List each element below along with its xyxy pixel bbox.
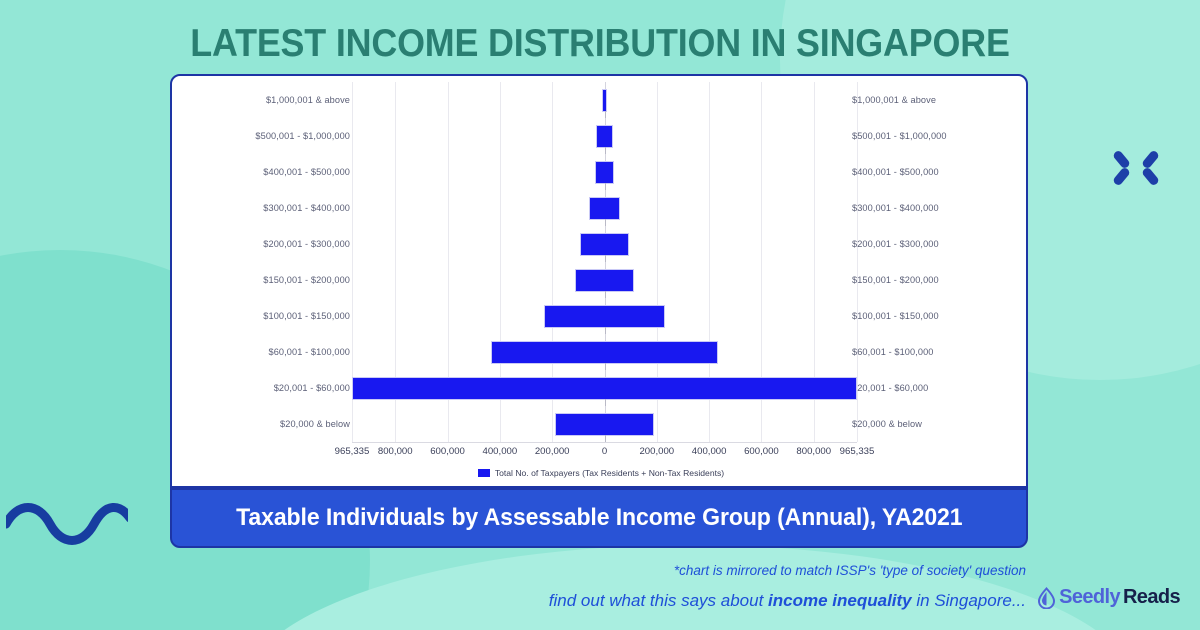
chart-row: $20,001 - $60,000$20,001 - $60,000 [172,370,1028,406]
chart-x-tick: 965,335 [335,446,370,457]
chart-row: $200,001 - $300,000$200,001 - $300,000 [172,226,1028,262]
chart-row: $20,000 & below$20,000 & below [172,406,1028,442]
chart-category-label-left: $200,001 - $300,000 [263,239,350,249]
chart-category-label-left: $20,001 - $60,000 [274,383,350,393]
tagline-emphasis: income inequality [768,591,912,610]
chart-bar[interactable] [602,89,607,112]
chart-x-tick: 200,000 [639,446,674,457]
chart-bar[interactable] [544,305,665,328]
background-blob-bottom [240,545,1140,630]
chart-category-label-left: $400,001 - $500,000 [263,167,350,177]
chart-category-label-left: $20,000 & below [280,419,350,429]
chart-footnote: *chart is mirrored to match ISSP's 'type… [674,563,1026,578]
chart-x-tick: 800,000 [796,446,831,457]
chart-row: $1,000,001 & above$1,000,001 & above [172,82,1028,118]
chart-x-tick: 600,000 [744,446,779,457]
chart-category-label-right: $20,001 - $60,000 [852,383,928,393]
chart-card: $1,000,001 & above$1,000,001 & above$500… [170,74,1028,488]
chart-category-label-right: $60,001 - $100,000 [852,347,934,357]
chart-row: $100,001 - $150,000$100,001 - $150,000 [172,298,1028,334]
chart-bar[interactable] [352,377,857,400]
chart-category-label-right: $400,001 - $500,000 [852,167,939,177]
chart-row: $60,001 - $100,000$60,001 - $100,000 [172,334,1028,370]
legend-label: Total No. of Taxpayers (Tax Residents + … [495,468,724,478]
chart-row-tick [605,363,606,370]
chart-category-label-left: $100,001 - $150,000 [263,311,350,321]
chart-legend: Total No. of Taxpayers (Tax Residents + … [172,468,1028,478]
chart-plot-area: $1,000,001 & above$1,000,001 & above$500… [172,76,1028,446]
chart-x-tick: 965,335 [840,446,875,457]
chart-category-label-left: $300,001 - $400,000 [263,203,350,213]
chart-x-tick: 0 [602,446,607,457]
chart-caption-banner: Taxable Individuals by Assessable Income… [170,488,1028,548]
tagline-before: find out what this says about [549,591,768,610]
chart-bar[interactable] [595,161,614,184]
infographic-canvas: LATEST INCOME DISTRIBUTION IN SINGAPORE … [0,0,1200,630]
chart-bar[interactable] [596,125,612,148]
chart-category-label-right: $20,000 & below [852,419,922,429]
chart-bar[interactable] [575,269,634,292]
chart-row: $150,001 - $200,000$150,001 - $200,000 [172,262,1028,298]
tagline: find out what this says about income ine… [549,591,1026,611]
chart-category-label-left: $60,001 - $100,000 [269,347,351,357]
chart-category-label-left: $500,001 - $1,000,000 [255,131,350,141]
wave-squiggle-icon [6,500,128,553]
chart-x-tick-labels: 965,335800,000600,000400,000200,0000200,… [172,446,1028,464]
chart-row-tick [605,219,606,226]
chart-bar[interactable] [555,413,654,436]
legend-swatch-icon [478,469,490,477]
chart-row-tick [605,291,606,298]
chart-bars: $1,000,001 & above$1,000,001 & above$500… [172,76,1028,446]
chart-x-tick: 400,000 [692,446,727,457]
seedly-leaf-icon [1037,587,1056,609]
chart-x-axis [352,442,857,443]
chart-row-tick [605,435,606,442]
chart-category-label-right: $300,001 - $400,000 [852,203,939,213]
chart-row-tick [605,255,606,262]
seedly-reads-logo[interactable]: Seedly Reads [1037,586,1180,609]
chart-row: $400,001 - $500,000$400,001 - $500,000 [172,154,1028,190]
chart-x-tick: 600,000 [430,446,465,457]
chart-row: $500,001 - $1,000,000$500,001 - $1,000,0… [172,118,1028,154]
chart-row-tick [605,111,606,118]
chart-row-tick [605,183,606,190]
chart-row-tick [605,399,606,406]
tagline-after: in Singapore... [912,591,1026,610]
chart-x-tick: 200,000 [535,446,570,457]
logo-word-seedly: Seedly [1059,586,1120,609]
four-petal-x-icon [1113,145,1159,196]
logo-word-reads: Reads [1123,586,1180,609]
chart-category-label-left: $1,000,001 & above [266,95,350,105]
chart-bar[interactable] [580,233,629,256]
chart-bar[interactable] [589,197,619,220]
chart-bar[interactable] [491,341,717,364]
page-title: LATEST INCOME DISTRIBUTION IN SINGAPORE [48,22,1152,66]
chart-caption-text: Taxable Individuals by Assessable Income… [236,504,962,532]
chart-category-label-right: $100,001 - $150,000 [852,311,939,321]
chart-category-label-right: $150,001 - $200,000 [852,275,939,285]
chart-category-label-left: $150,001 - $200,000 [263,275,350,285]
chart-x-tick: 400,000 [483,446,518,457]
chart-category-label-right: $500,001 - $1,000,000 [852,131,947,141]
chart-row-tick [605,327,606,334]
chart-row-tick [605,147,606,154]
chart-category-label-right: $1,000,001 & above [852,95,936,105]
chart-row: $300,001 - $400,000$300,001 - $400,000 [172,190,1028,226]
chart-category-label-right: $200,001 - $300,000 [852,239,939,249]
chart-x-tick: 800,000 [378,446,413,457]
